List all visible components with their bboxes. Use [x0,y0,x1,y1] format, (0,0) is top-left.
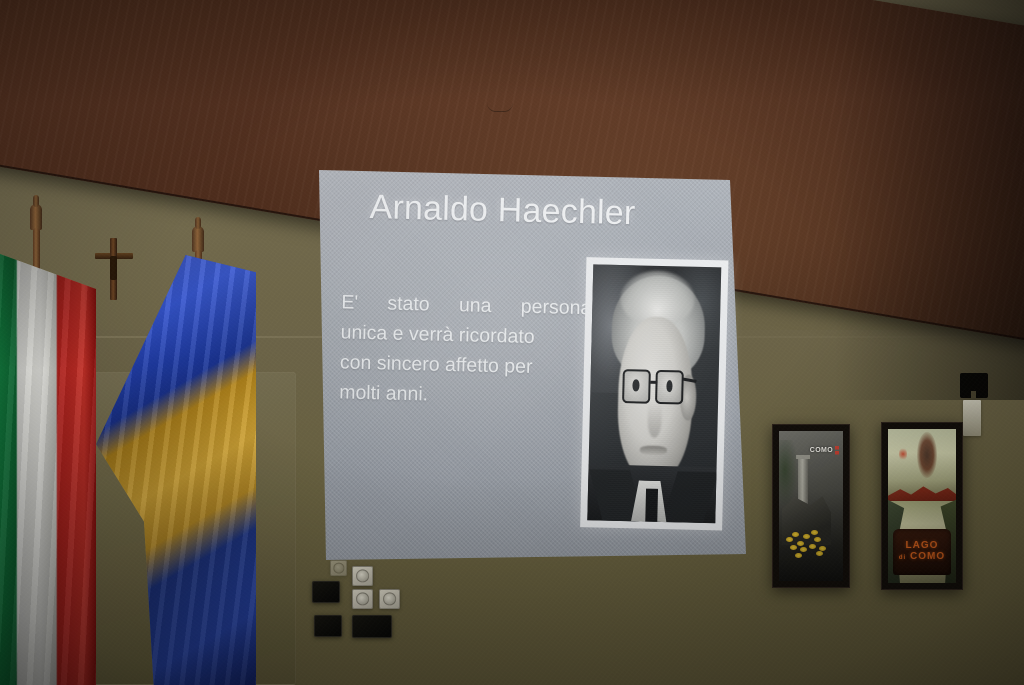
slide-body-line-4: molti anni. [339,377,590,413]
poster-como-image: COMO [779,431,843,581]
poster-como-flower [800,547,807,552]
wall-socket-right[interactable] [379,589,400,609]
poster-como-flower [795,553,802,558]
poster-lago-image: LAGO di COMO [888,429,956,583]
poster-lago-title-line1: LAGO [906,540,939,551]
room-photograph: Arnaldo Haechler E' stato una persona un… [0,0,1024,685]
portrait-eye-right [666,380,673,392]
poster-lago-di-como: LAGO di COMO [881,422,963,590]
poster-como-flower [786,537,793,542]
crucifix-icon [95,238,133,300]
wall-box-lower-left [314,615,342,637]
slide-content: Arnaldo Haechler E' stato una persona un… [307,155,762,569]
poster-como-flower [797,541,804,546]
poster-como-flower [816,551,823,556]
wall-paper-note [963,400,981,436]
poster-lago-cloud [917,432,937,478]
portrait-nose [647,401,662,437]
flag-pole-finial-italy [30,204,42,230]
poster-como-flower [814,537,821,542]
wall-fixture [960,373,988,398]
poster-como-flower [811,530,818,535]
portrait-image [587,264,721,523]
poster-lago-title-line2: di COMO [899,551,945,564]
poster-como-logo-grid-icon [835,446,839,455]
projection-screen: Arnaldo Haechler E' stato una persona un… [312,160,758,564]
crucifix-figure [110,256,117,280]
wall-socket-middle[interactable] [352,589,373,609]
poster-como-flower [809,544,816,549]
poster-como: COMO [772,424,850,588]
flag-pole-finial-blue [192,226,204,252]
portrait-tie [645,488,659,522]
portrait-photo [580,257,728,530]
poster-lago-title-banner: LAGO di COMO [893,529,950,575]
poster-lago-title-prefix: di [899,555,906,561]
wall-socket-top[interactable] [352,566,373,586]
portrait-glasses-bridge [650,381,657,384]
poster-lago-title-word: COMO [910,551,945,562]
poster-como-flower [792,532,799,537]
italian-flag [0,235,96,685]
portrait-eye-left [633,379,640,391]
poster-como-tree [779,440,798,506]
wall-box-lower-right [352,615,392,638]
slide-title: Arnaldo Haechler [369,188,730,235]
poster-como-logo-text: COMO [810,447,833,454]
poster-como-flower [790,545,797,550]
poster-como-flowers [783,527,833,560]
italian-flag-shading [0,235,96,685]
poster-como-flower [803,534,810,539]
poster-como-logo: COMO [810,440,839,461]
wall-socket-under-screen[interactable] [330,560,347,576]
portrait-mouth [640,446,667,456]
slide-body: E' stato una persona unica e verrà ricor… [339,287,592,413]
wall-box-upper-left [312,581,340,603]
